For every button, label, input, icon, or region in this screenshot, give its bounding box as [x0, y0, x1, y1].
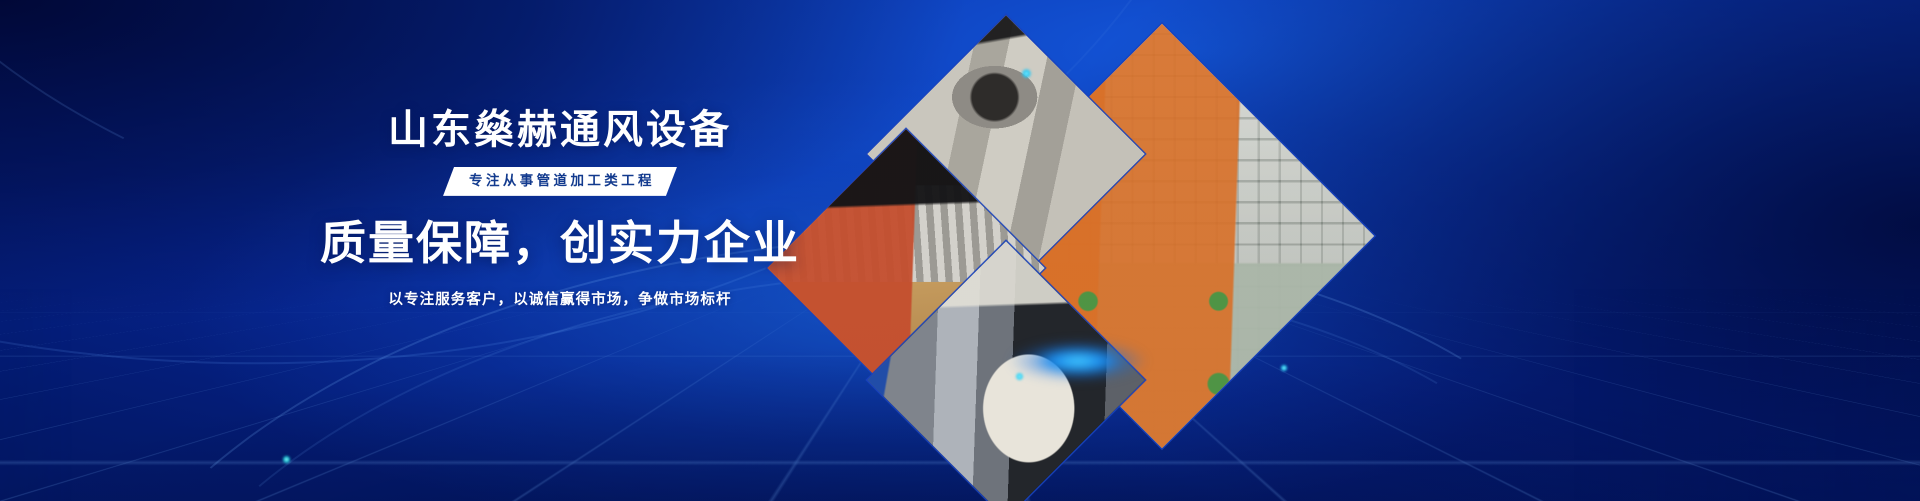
- company-title: 山东燊赫通风设备: [300, 110, 820, 150]
- glow-dot-center: [1015, 372, 1024, 381]
- service-scope-ribbon: 专注从事管道加工类工程: [443, 167, 677, 196]
- ground-glow: [1008, 340, 1148, 382]
- banner-tagline: 以专注服务客户，以诚信赢得市场，争做市场标杆: [300, 288, 820, 309]
- diamond-photo-collage: [800, 20, 1260, 480]
- glow-dot-top: [1021, 68, 1032, 79]
- hero-banner: 山东燊赫通风设备 专注从事管道加工类工程 质量保障，创实力企业 以专注服务客户，…: [0, 0, 1920, 501]
- banner-headline: 质量保障，创实力企业: [300, 218, 820, 270]
- ribbon-row: 专注从事管道加工类工程: [300, 167, 820, 196]
- glow-dot-right: [1280, 364, 1288, 372]
- banner-copy-block: 山东燊赫通风设备 专注从事管道加工类工程 质量保障，创实力企业 以专注服务客户，…: [300, 110, 820, 309]
- glow-dot-left: [282, 455, 291, 464]
